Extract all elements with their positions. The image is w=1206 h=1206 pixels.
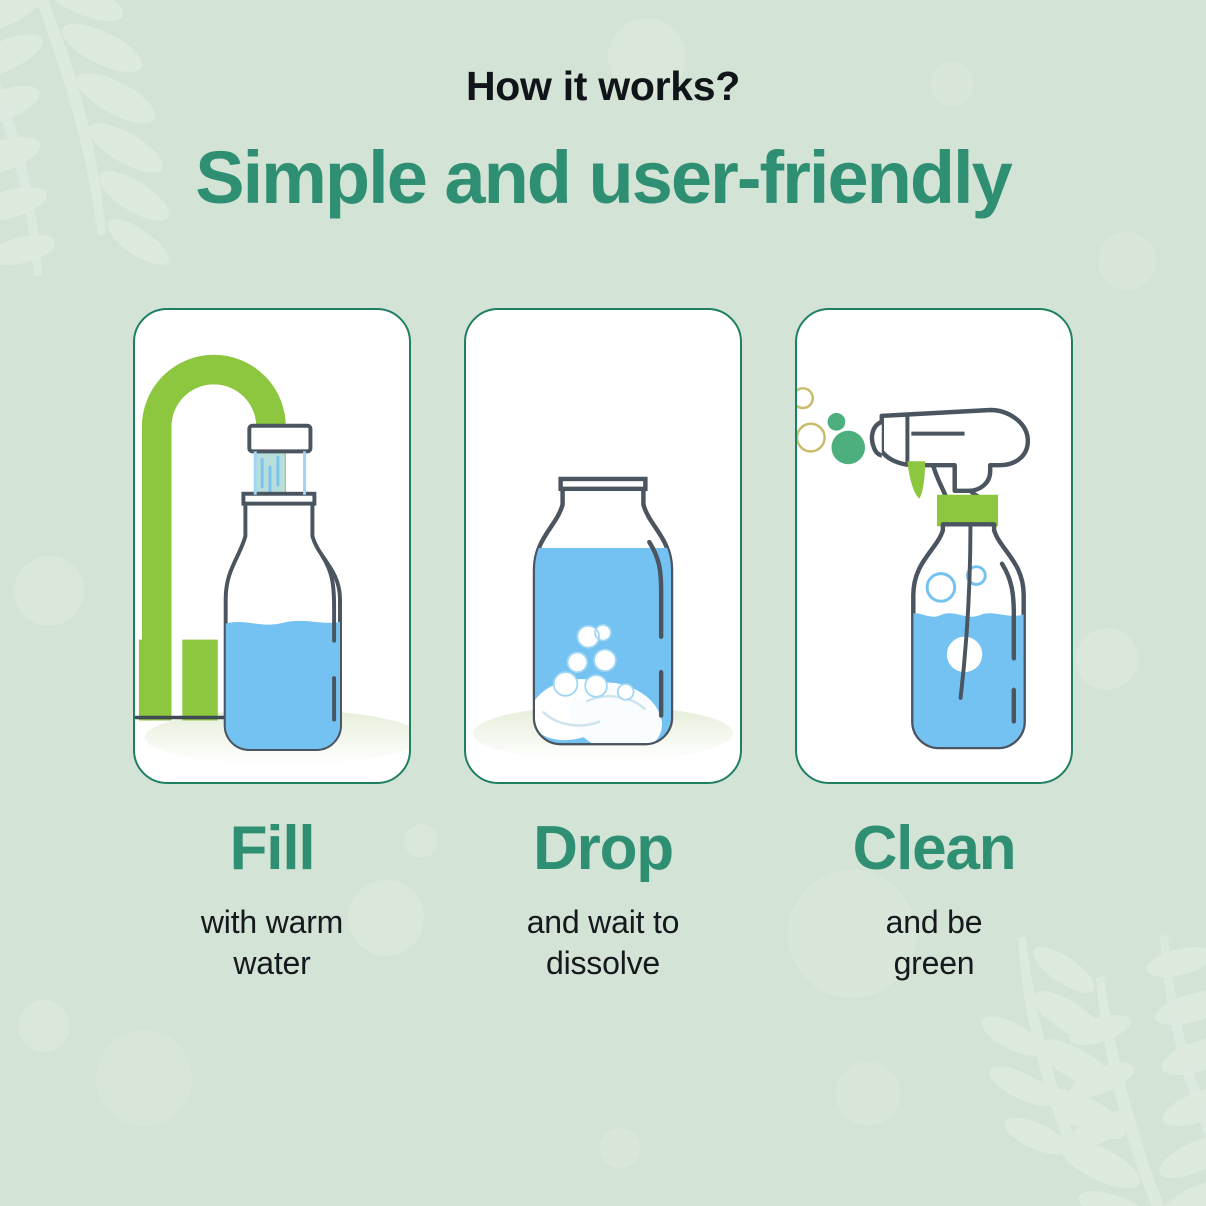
bokeh-circle: [836, 1062, 900, 1126]
steps-caption-row: Fill with warm water Drop and wait to di…: [133, 818, 1073, 1028]
header-block: How it works? Simple and user-friendly: [0, 66, 1206, 215]
step-caption-clean: Clean and be green: [795, 818, 1073, 1028]
step-title-drop: Drop: [464, 818, 742, 880]
step-subtitle-line2: dissolve: [546, 945, 660, 981]
step-subtitle-line1: and be: [886, 904, 983, 940]
step-card-fill[interactable]: [133, 308, 411, 784]
soap-bubbles: [797, 388, 865, 464]
step-caption-fill: Fill with warm water: [133, 818, 411, 1028]
bottle-with-tablets-icon: [466, 310, 740, 782]
bokeh-circle: [96, 1030, 192, 1126]
bokeh-circle: [18, 1000, 70, 1052]
bokeh-circle: [1098, 232, 1156, 290]
faucet-filling-bottle-icon: [135, 310, 409, 782]
page-kicker: How it works?: [0, 66, 1206, 107]
step-subtitle-line1: and wait to: [527, 904, 680, 940]
step-subtitle-line2: water: [233, 945, 310, 981]
step-subtitle-line1: with warm: [201, 904, 343, 940]
step-card-drop[interactable]: [464, 308, 742, 784]
bokeh-circle: [14, 556, 84, 626]
spray-bottle-icon: [797, 310, 1071, 782]
steps-card-row: [133, 308, 1073, 784]
step-subtitle-line2: green: [894, 945, 975, 981]
step-card-clean[interactable]: [795, 308, 1073, 784]
bokeh-circle: [600, 1128, 640, 1168]
step-title-fill: Fill: [133, 818, 411, 880]
bokeh-circle: [1076, 628, 1138, 690]
step-subtitle-fill: with warm water: [133, 902, 411, 984]
step-caption-drop: Drop and wait to dissolve: [464, 818, 742, 1028]
page-title: Simple and user-friendly: [0, 141, 1206, 215]
step-title-clean: Clean: [795, 818, 1073, 880]
step-subtitle-clean: and be green: [795, 902, 1073, 984]
step-subtitle-drop: and wait to dissolve: [464, 902, 742, 984]
infographic-canvas: How it works? Simple and user-friendly: [0, 0, 1206, 1206]
